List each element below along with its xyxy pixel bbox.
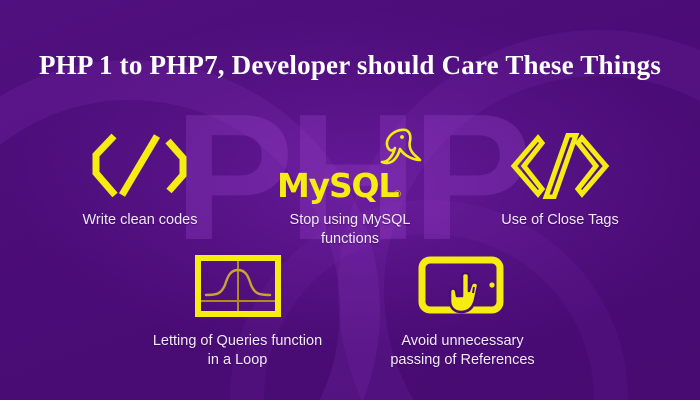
tip-card-use-of-close-tags: Use of Close Tags — [455, 130, 665, 249]
icon-container: MySQL ® — [275, 130, 425, 202]
tip-card-write-clean-codes: Write clean codes — [35, 130, 245, 249]
icon-container — [506, 130, 614, 202]
icon-container — [195, 252, 281, 320]
mysql-wordmark-text: MySQL — [277, 169, 398, 202]
tip-card-stop-using-mysql-functions: MySQL ® Stop using MySQL functions — [245, 130, 455, 249]
tablet-touch-hand-icon — [418, 254, 508, 318]
tips-row-top: Write clean codes MySQL ® — [0, 130, 700, 249]
tip-card-queries-in-a-loop: Letting of Queries function in a Loop — [125, 252, 350, 370]
tip-caption-line-1: Stop using MySQL — [290, 211, 411, 230]
mysql-logo-icon: MySQL ® — [275, 130, 425, 202]
bell-curve-chart-icon — [195, 255, 281, 317]
tip-caption-line-1: Letting of Queries function — [153, 332, 322, 351]
tip-caption-line-2: functions — [290, 230, 411, 249]
tip-caption-line-1: Avoid unnecessary — [390, 332, 534, 351]
code-brackets-slash-icon — [82, 133, 198, 199]
tips-row-bottom: Letting of Queries function in a Loop — [0, 252, 700, 370]
page-title: PHP 1 to PHP7, Developer should Care The… — [0, 48, 700, 82]
tip-caption: Use of Close Tags — [501, 211, 618, 230]
icon-container — [82, 130, 198, 202]
close-tags-chevrons-icon — [506, 133, 614, 199]
infographic-canvas: PHP PHP 1 to PHP7, Developer should Care… — [0, 0, 700, 400]
page-title-text: PHP 1 to PHP7, Developer should Care The… — [39, 48, 661, 82]
icon-container — [418, 252, 508, 320]
tip-card-avoid-passing-references: Avoid unnecessary passing of References — [350, 252, 575, 370]
tip-caption: Letting of Queries function in a Loop — [153, 332, 322, 370]
tip-caption-line-1: Use of Close Tags — [501, 211, 618, 230]
tip-caption-line-2: passing of References — [390, 351, 534, 370]
tip-caption: Write clean codes — [83, 211, 198, 230]
tip-caption: Stop using MySQL functions — [290, 211, 411, 249]
tip-caption-line-2: in a Loop — [153, 351, 322, 370]
tip-caption-line-1: Write clean codes — [83, 211, 198, 230]
mysql-registered-mark: ® — [393, 190, 402, 200]
tip-caption: Avoid unnecessary passing of References — [390, 332, 534, 370]
